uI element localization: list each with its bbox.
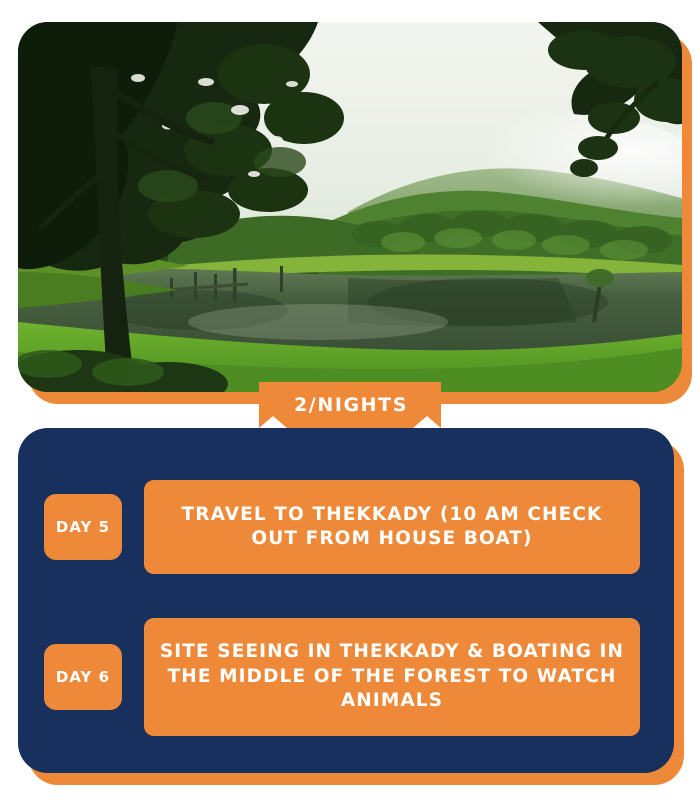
photo-card (18, 22, 682, 392)
itinerary-panel-body: Day 5 Travel to Thekkady (10 am check ou… (18, 428, 674, 773)
day-badge-6: Day 6 (44, 644, 122, 710)
lake-landscape-illustration (18, 22, 682, 392)
thekkady-lake-photo (18, 22, 682, 392)
itinerary-row-day-6: Day 6 Site seeing in Thekkady & Boating … (44, 618, 640, 736)
nights-label: 2/Nights (259, 382, 441, 428)
activity-text-day-6: Site seeing in Thekkady & Boating in the… (144, 618, 640, 736)
nights-ribbon-banner: 2/Nights (259, 382, 441, 428)
itinerary-panel: Day 5 Travel to Thekkady (10 am check ou… (18, 428, 674, 773)
activity-text-day-5: Travel to Thekkady (10 am check out from… (144, 480, 640, 574)
day-badge-5: Day 5 (44, 494, 122, 560)
itinerary-row-day-5: Day 5 Travel to Thekkady (10 am check ou… (44, 480, 640, 574)
